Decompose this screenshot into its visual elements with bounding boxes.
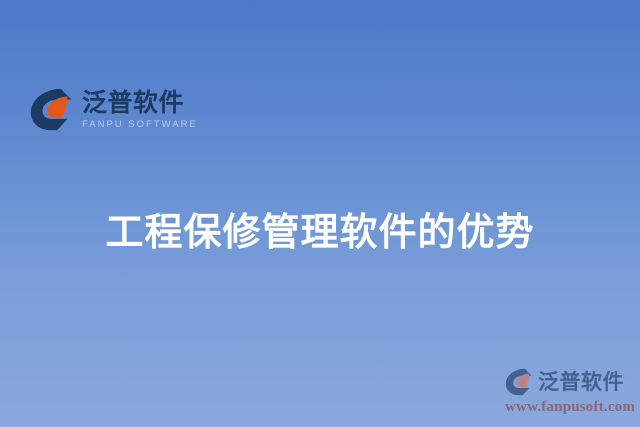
brand-name-en: FANPU SOFTWARE	[82, 119, 198, 130]
fanpu-swoosh-logo-icon	[28, 86, 75, 133]
brand-logo-lockup[interactable]: 泛普软件 FANPU SOFTWARE	[28, 86, 198, 133]
watermark-url: www.fanpusoft.com	[505, 400, 635, 415]
promo-banner: 泛普软件 FANPU SOFTWARE 工程保修管理软件的优势 泛普软件 www…	[0, 0, 640, 427]
page-title: 工程保修管理软件的优势	[0, 211, 640, 257]
brand-text-block: 泛普软件 FANPU SOFTWARE	[82, 88, 198, 131]
brand-name-cn: 泛普软件	[82, 90, 198, 116]
fanpu-swoosh-logo-icon	[504, 367, 534, 397]
watermark: 泛普软件 www.fanpusoft.com	[504, 367, 635, 415]
watermark-logo-row: 泛普软件	[504, 367, 624, 397]
watermark-name-cn: 泛普软件	[538, 372, 624, 393]
